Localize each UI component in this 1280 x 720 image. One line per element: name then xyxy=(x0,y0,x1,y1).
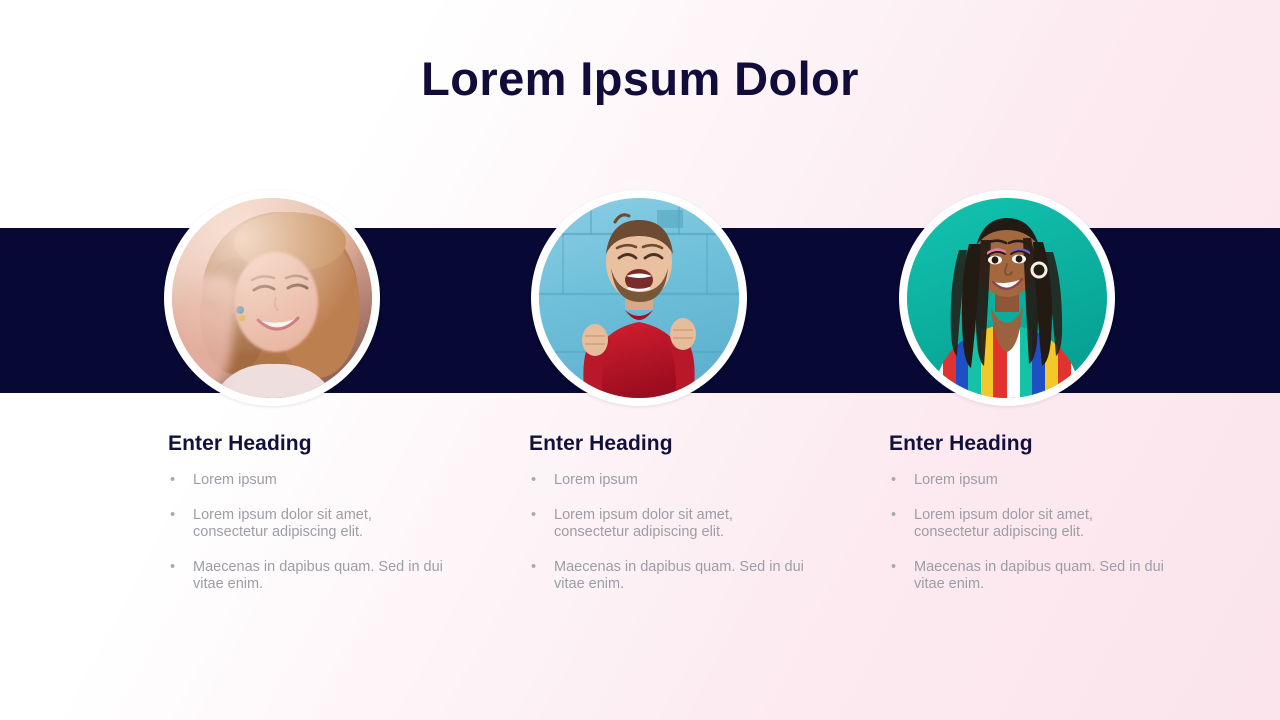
page-title: Lorem Ipsum Dolor xyxy=(0,48,1280,110)
bullet-text: Lorem ipsum xyxy=(193,472,277,488)
content-column-1: Enter Heading • Lorem ipsum • Lorem ipsu… xyxy=(168,430,468,594)
photo-circle-1[interactable] xyxy=(164,190,380,406)
bullet-text: Lorem ipsum xyxy=(554,472,638,488)
bullet-dot-icon: • xyxy=(531,472,536,490)
column-heading-2: Enter Heading xyxy=(529,430,829,457)
list-item: • Lorem ipsum dolor sit amet, consectetu… xyxy=(168,507,443,542)
bullet-dot-icon: • xyxy=(531,559,536,577)
list-item: • Lorem ipsum dolor sit amet, consectetu… xyxy=(529,507,804,542)
bullet-list-1: • Lorem ipsum • Lorem ipsum dolor sit am… xyxy=(168,472,468,594)
bullet-text: Maecenas in dapibus quam. Sed in dui vit… xyxy=(914,559,1164,593)
photo-circle-2[interactable] xyxy=(531,190,747,406)
bullet-list-2: • Lorem ipsum • Lorem ipsum dolor sit am… xyxy=(529,472,829,594)
list-item: • Maecenas in dapibus quam. Sed in dui v… xyxy=(889,559,1164,594)
bullet-text: Lorem ipsum dolor sit amet, consectetur … xyxy=(193,507,372,541)
bullet-text: Lorem ipsum xyxy=(914,472,998,488)
list-item: • Maecenas in dapibus quam. Sed in dui v… xyxy=(529,559,804,594)
list-item: • Lorem ipsum xyxy=(889,472,1164,490)
bullet-dot-icon: • xyxy=(891,559,896,577)
bullet-dot-icon: • xyxy=(170,507,175,525)
bullet-text: Lorem ipsum dolor sit amet, consectetur … xyxy=(914,507,1093,541)
laughing-man-red-sweater-photo xyxy=(539,198,739,398)
column-heading-1: Enter Heading xyxy=(168,430,468,457)
content-column-3: Enter Heading • Lorem ipsum • Lorem ipsu… xyxy=(889,430,1189,594)
bullet-text: Maecenas in dapibus quam. Sed in dui vit… xyxy=(554,559,804,593)
list-item: • Lorem ipsum xyxy=(529,472,804,490)
bullet-text: Lorem ipsum dolor sit amet, consectetur … xyxy=(554,507,733,541)
bullet-dot-icon: • xyxy=(531,507,536,525)
bullet-text: Maecenas in dapibus quam. Sed in dui vit… xyxy=(193,559,443,593)
list-item: • Maecenas in dapibus quam. Sed in dui v… xyxy=(168,559,443,594)
content-column-2: Enter Heading • Lorem ipsum • Lorem ipsu… xyxy=(529,430,829,594)
bullet-dot-icon: • xyxy=(891,472,896,490)
bullet-list-3: • Lorem ipsum • Lorem ipsum dolor sit am… xyxy=(889,472,1189,594)
smiling-woman-curly-hair-photo xyxy=(172,198,372,398)
smiling-woman-braids-striped-top-photo xyxy=(907,198,1107,398)
column-heading-3: Enter Heading xyxy=(889,430,1189,457)
bullet-dot-icon: • xyxy=(891,507,896,525)
bullet-dot-icon: • xyxy=(170,472,175,490)
slide-canvas: Lorem Ipsum Dolor xyxy=(0,0,1280,720)
list-item: • Lorem ipsum dolor sit amet, consectetu… xyxy=(889,507,1164,542)
list-item: • Lorem ipsum xyxy=(168,472,443,490)
photo-circle-3[interactable] xyxy=(899,190,1115,406)
bullet-dot-icon: • xyxy=(170,559,175,577)
